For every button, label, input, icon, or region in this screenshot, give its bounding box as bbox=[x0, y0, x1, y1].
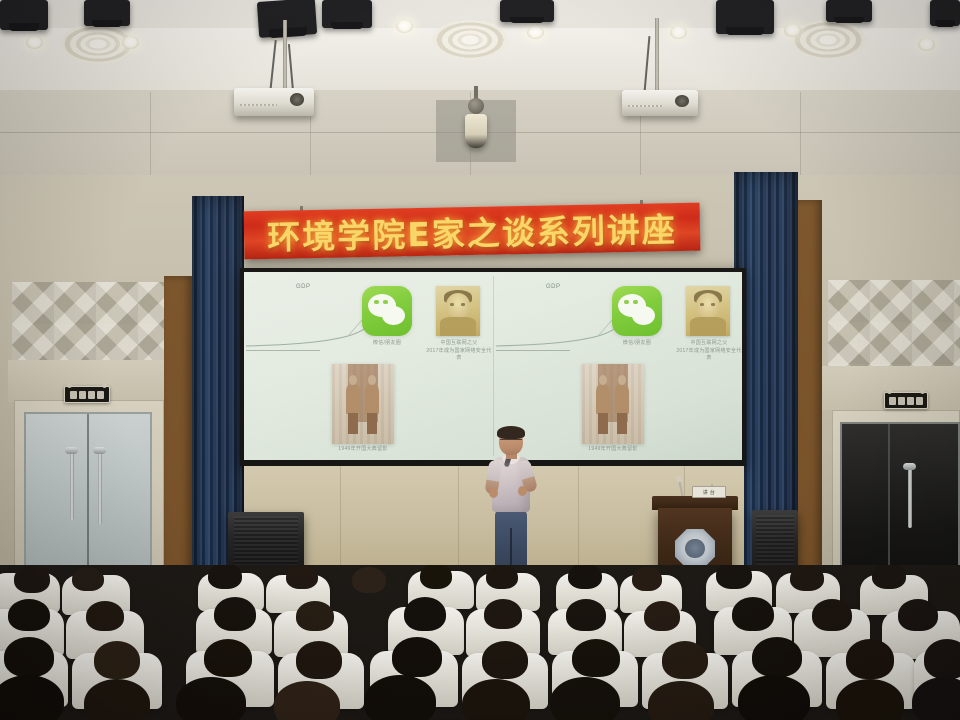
downlight bbox=[122, 36, 139, 49]
exit-glyph bbox=[97, 391, 104, 399]
presenter-glasses bbox=[500, 439, 522, 444]
wechat-bubble bbox=[382, 306, 405, 325]
audience-head bbox=[662, 641, 708, 679]
audience-head bbox=[364, 675, 436, 720]
audience-head bbox=[790, 565, 824, 591]
historical-photo bbox=[582, 364, 644, 444]
downlight bbox=[26, 36, 43, 49]
portrait-body bbox=[690, 317, 727, 336]
speaker-grille bbox=[234, 516, 298, 569]
portrait-eye bbox=[711, 303, 715, 306]
projector bbox=[234, 88, 314, 116]
pod-mount bbox=[468, 98, 484, 114]
stage-light bbox=[826, 0, 872, 22]
audience-head bbox=[4, 637, 54, 677]
audience-head bbox=[482, 641, 528, 679]
exit-glyph bbox=[79, 391, 86, 399]
audience-head bbox=[924, 639, 960, 679]
figure-legs bbox=[617, 413, 627, 434]
wall-seam bbox=[458, 466, 459, 570]
audience-head bbox=[214, 597, 256, 631]
projector-vent bbox=[240, 104, 277, 106]
figure-torso bbox=[346, 385, 360, 415]
wechat-eye bbox=[383, 300, 388, 304]
door-handle[interactable] bbox=[908, 466, 912, 528]
university-emblem-icon bbox=[675, 529, 715, 569]
exit-sign-bulb bbox=[102, 383, 107, 388]
exit-glyph bbox=[916, 397, 923, 405]
photo-figure bbox=[614, 375, 629, 434]
presenter-hand bbox=[518, 486, 527, 496]
portrait-caption: 中国互联网之父 2017年成为国家网络安全代表 bbox=[674, 340, 742, 363]
exit-glyph bbox=[907, 397, 914, 405]
portrait-face bbox=[446, 293, 471, 318]
portrait-photo bbox=[436, 286, 480, 336]
audience-head bbox=[204, 639, 252, 677]
audience-head bbox=[572, 639, 620, 677]
exit-sign-left bbox=[64, 386, 110, 403]
audience-head bbox=[86, 601, 124, 631]
figure-head bbox=[618, 375, 626, 385]
audience-head bbox=[812, 599, 852, 631]
audience-area bbox=[0, 565, 960, 720]
presenter bbox=[488, 428, 536, 588]
audience-head bbox=[296, 601, 334, 631]
podium-nameplate: 讲 台 bbox=[692, 486, 726, 498]
portrait-eye bbox=[700, 303, 704, 306]
audience-head bbox=[404, 597, 446, 631]
portrait-caption: 中国互联网之父 2017年成为国家网络安全代表 bbox=[424, 340, 494, 363]
audience-head bbox=[644, 601, 680, 631]
presenter-hair bbox=[497, 426, 525, 439]
wall-seam bbox=[340, 466, 341, 570]
projector-lens-icon bbox=[290, 93, 304, 106]
acoustic-pyramid-panel-left bbox=[12, 282, 164, 362]
historical-photo bbox=[332, 364, 394, 444]
photo-figure bbox=[364, 375, 379, 434]
acoustic-pyramid-panel-right bbox=[828, 280, 960, 368]
exit-glyph bbox=[889, 397, 896, 405]
audience-head bbox=[352, 567, 386, 593]
wechat-eye bbox=[633, 300, 638, 304]
figure-legs bbox=[598, 413, 608, 434]
audience-head bbox=[8, 599, 50, 631]
audience-head bbox=[176, 677, 246, 720]
wechat-caption: 微信/朋友圈 bbox=[342, 340, 432, 348]
stage-light bbox=[930, 0, 960, 26]
audience-head bbox=[898, 599, 938, 631]
audience-head bbox=[392, 637, 442, 677]
audience-head bbox=[84, 679, 150, 720]
figure-torso bbox=[596, 385, 610, 415]
exit-glyph bbox=[70, 391, 77, 399]
chart-axis-x bbox=[246, 350, 320, 351]
photo-figure bbox=[596, 375, 611, 434]
exit-sign-bulb bbox=[920, 389, 925, 394]
ceiling bbox=[0, 0, 960, 175]
figure-legs bbox=[348, 413, 358, 434]
figure-torso bbox=[365, 385, 379, 415]
audience-head bbox=[14, 565, 50, 593]
audience-head bbox=[568, 565, 602, 589]
audience-head bbox=[484, 599, 522, 629]
audience-head bbox=[752, 637, 802, 677]
exit-sign-right bbox=[884, 392, 928, 409]
projector-vent bbox=[628, 105, 663, 107]
audience-head bbox=[550, 677, 620, 720]
stage-light bbox=[322, 0, 372, 28]
wechat-eye bbox=[374, 300, 379, 304]
portrait-body bbox=[440, 317, 477, 336]
chart-axis-x bbox=[496, 350, 570, 351]
audience-head bbox=[72, 567, 104, 591]
slide-panel-left: GDP 微信/朋友圈 中国互联网之父 2017年成为国家网络安全代表 bbox=[244, 272, 493, 460]
audience-head bbox=[732, 597, 774, 631]
door-handle[interactable] bbox=[98, 450, 102, 524]
downlight bbox=[784, 24, 801, 37]
historical-photo-caption: 1949年开国大典留影 bbox=[322, 446, 404, 454]
ceiling-camera-pod bbox=[465, 114, 487, 148]
audience-head bbox=[846, 639, 894, 679]
wechat-bubble bbox=[632, 306, 655, 325]
figure-torso bbox=[615, 385, 629, 415]
ceiling-rosette bbox=[432, 20, 508, 60]
wall-seam bbox=[578, 466, 579, 570]
portrait-eye bbox=[461, 303, 465, 306]
projector-mount-pole bbox=[655, 18, 659, 90]
door-handle[interactable] bbox=[70, 450, 74, 520]
downlight bbox=[670, 26, 687, 39]
exit-sign-bulb bbox=[67, 383, 72, 388]
photo-figure bbox=[346, 375, 361, 434]
audience-head bbox=[286, 565, 318, 589]
portrait-eye bbox=[450, 303, 454, 306]
wood-slat-panel-left bbox=[164, 276, 192, 606]
lecture-hall-photo: 环境学院E家之谈系列讲座 GDP 微信/朋友圈 bbox=[0, 0, 960, 720]
wechat-icon bbox=[362, 286, 412, 336]
figure-head bbox=[599, 375, 607, 385]
audience-head bbox=[716, 565, 752, 589]
wechat-eye bbox=[624, 300, 629, 304]
wechat-caption: 微信/朋友圈 bbox=[592, 340, 682, 348]
wechat-icon bbox=[612, 286, 662, 336]
audience-head bbox=[566, 599, 606, 631]
portrait-photo bbox=[686, 286, 730, 336]
wood-slat-panel-right bbox=[796, 200, 822, 600]
projector-lens-icon bbox=[675, 95, 689, 107]
exit-sign-bulb bbox=[887, 389, 892, 394]
ceiling-seam bbox=[800, 92, 801, 175]
stage-light bbox=[84, 0, 130, 26]
downlight bbox=[396, 20, 413, 33]
audience-head bbox=[738, 675, 810, 720]
figure-head bbox=[349, 375, 357, 385]
ceiling-rosette bbox=[790, 20, 866, 60]
portrait-face bbox=[696, 293, 721, 318]
exit-glyph bbox=[898, 397, 905, 405]
downlight bbox=[918, 38, 935, 51]
historical-photo-caption: 1949年开国大典留影 bbox=[572, 446, 654, 454]
ceiling-seam bbox=[150, 92, 151, 175]
podium-mic-head bbox=[676, 476, 682, 482]
audience-head bbox=[208, 565, 242, 589]
exit-glyph bbox=[88, 391, 95, 399]
audience-head bbox=[632, 567, 662, 591]
audience-head bbox=[296, 641, 342, 679]
audience-head bbox=[420, 565, 452, 589]
banner-title: 环境学院E家之谈系列讲座 bbox=[267, 203, 677, 259]
projector bbox=[622, 90, 698, 116]
event-banner: 环境学院E家之谈系列讲座 bbox=[244, 203, 701, 260]
presenter-hand bbox=[489, 488, 498, 498]
projector-mount-pole bbox=[283, 20, 287, 90]
stage-light bbox=[0, 0, 48, 30]
audience-head bbox=[872, 565, 906, 589]
figure-head bbox=[368, 375, 376, 385]
downlight bbox=[527, 26, 544, 39]
stage-light bbox=[500, 0, 554, 22]
stage-light bbox=[716, 0, 774, 34]
audience-head bbox=[486, 565, 518, 589]
figure-legs bbox=[367, 413, 377, 434]
audience-head bbox=[94, 641, 140, 679]
stage-light bbox=[257, 0, 317, 38]
